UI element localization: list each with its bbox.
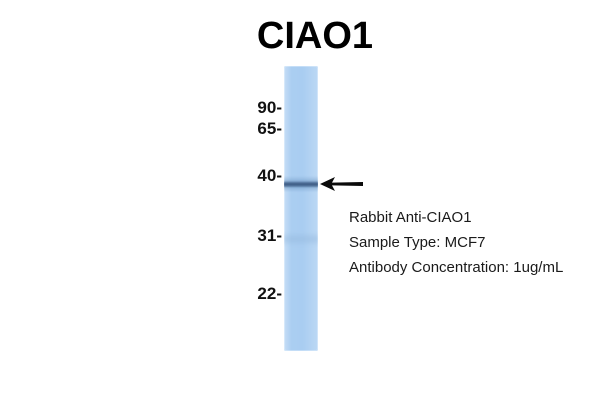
marker-label-65: 65- (198, 120, 282, 138)
secondary-band (284, 232, 318, 246)
marker-label-22: 22- (198, 285, 282, 303)
arrow-left-icon (318, 174, 364, 194)
annotation-antibody: Rabbit Anti-CIAO1 (349, 205, 599, 230)
western-blot-figure: CIAO1 90- 65- 40- 31- 22- Rabbit Anti-CI… (0, 0, 600, 400)
annotation-antibody-concentration: Antibody Concentration: 1ug/mL (349, 255, 599, 280)
primary-band (284, 182, 318, 187)
band-pointer-arrow (318, 174, 364, 194)
marker-label-31: 31- (198, 227, 282, 245)
molecular-weight-ladder: 90- 65- 40- 31- 22- (198, 0, 282, 400)
annotation-block: Rabbit Anti-CIAO1 Sample Type: MCF7 Anti… (349, 205, 599, 280)
marker-label-90: 90- (198, 99, 282, 117)
gel-lane (284, 66, 318, 351)
annotation-sample-type: Sample Type: MCF7 (349, 230, 599, 255)
marker-label-40: 40- (198, 167, 282, 185)
